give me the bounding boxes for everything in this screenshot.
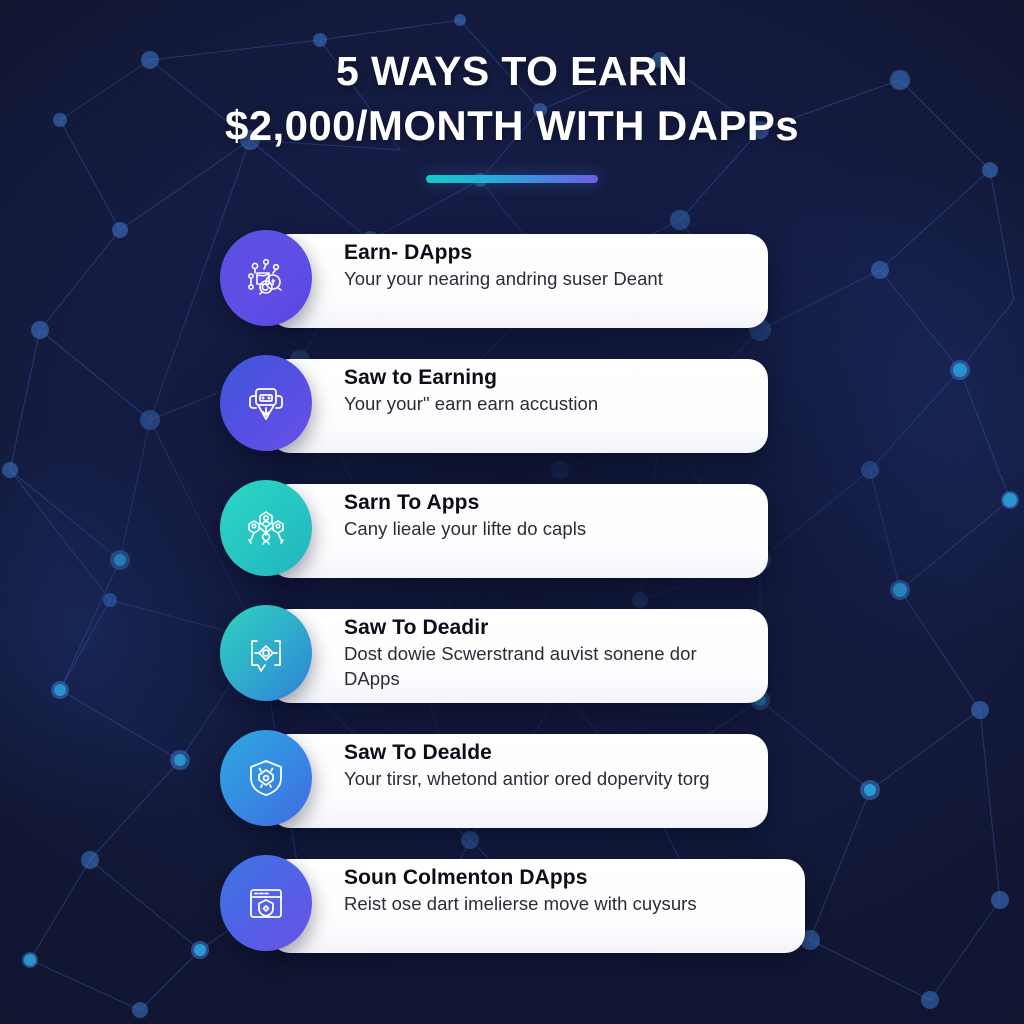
robot-face-icon <box>220 355 312 451</box>
browser-shield-icon <box>220 855 312 951</box>
connected-users-icon <box>220 480 312 576</box>
card-text: Earn- DApps Your your nearing andring su… <box>344 239 764 292</box>
card-description: Dost dowie Scwerstrand auvist sonene dor… <box>344 642 744 691</box>
card-title: Saw To Deadir <box>344 614 764 643</box>
card-text: Saw To Dealde Your tirsr, whetond antior… <box>344 739 764 792</box>
card-title: Earn- DApps <box>344 239 764 268</box>
title-line-1: 5 WAYS TO EARN <box>0 44 1024 98</box>
card-description: Your tirsr, whetond antior ored dopervit… <box>344 767 744 792</box>
card-title: Soun Colmenton DApps <box>344 864 804 893</box>
title-divider <box>426 175 598 183</box>
card-title: Saw To Dealde <box>344 739 764 768</box>
list-item[interactable]: Earn- DApps Your your nearing andring su… <box>0 230 1024 331</box>
network-coins-icon <box>220 230 312 326</box>
card-text: Sarn To Apps Cany lieale your lifte do c… <box>344 489 764 542</box>
list-item[interactable]: Soun Colmenton DApps Reist ose dart imel… <box>0 855 1024 956</box>
card-description: Your your" earn earn accustion <box>344 392 744 417</box>
card-description: Reist ose dart imelierse move with cuysu… <box>344 892 774 917</box>
shield-lock-icon <box>220 730 312 826</box>
card-title: Sarn To Apps <box>344 489 764 518</box>
card-text: Saw To Deadir Dost dowie Scwerstrand auv… <box>344 614 764 691</box>
card-description: Your your nearing andring suser Deant <box>344 267 744 292</box>
card-text: Saw to Earning Your your" earn earn accu… <box>344 364 764 417</box>
infographic-canvas: 5 WAYS TO EARN $2,000/MONTH WITH DAPPs <box>0 0 1024 1024</box>
list-item[interactable]: Saw to Earning Your your" earn earn accu… <box>0 355 1024 456</box>
card-description: Cany lieale your lifte do capls <box>344 517 744 542</box>
list-item[interactable]: Saw To Deadir Dost dowie Scwerstrand auv… <box>0 605 1024 706</box>
card-title: Saw to Earning <box>344 364 764 393</box>
card-text: Soun Colmenton DApps Reist ose dart imel… <box>344 864 804 917</box>
cards-list: Earn- DApps Your your nearing andring su… <box>0 230 1024 956</box>
title-line-2: $2,000/MONTH WITH DAPPs <box>0 98 1024 153</box>
list-item[interactable]: Sarn To Apps Cany lieale your lifte do c… <box>0 480 1024 581</box>
document-gem-icon <box>220 605 312 701</box>
page-title: 5 WAYS TO EARN $2,000/MONTH WITH DAPPs <box>0 44 1024 154</box>
list-item[interactable]: Saw To Dealde Your tirsr, whetond antior… <box>0 730 1024 831</box>
